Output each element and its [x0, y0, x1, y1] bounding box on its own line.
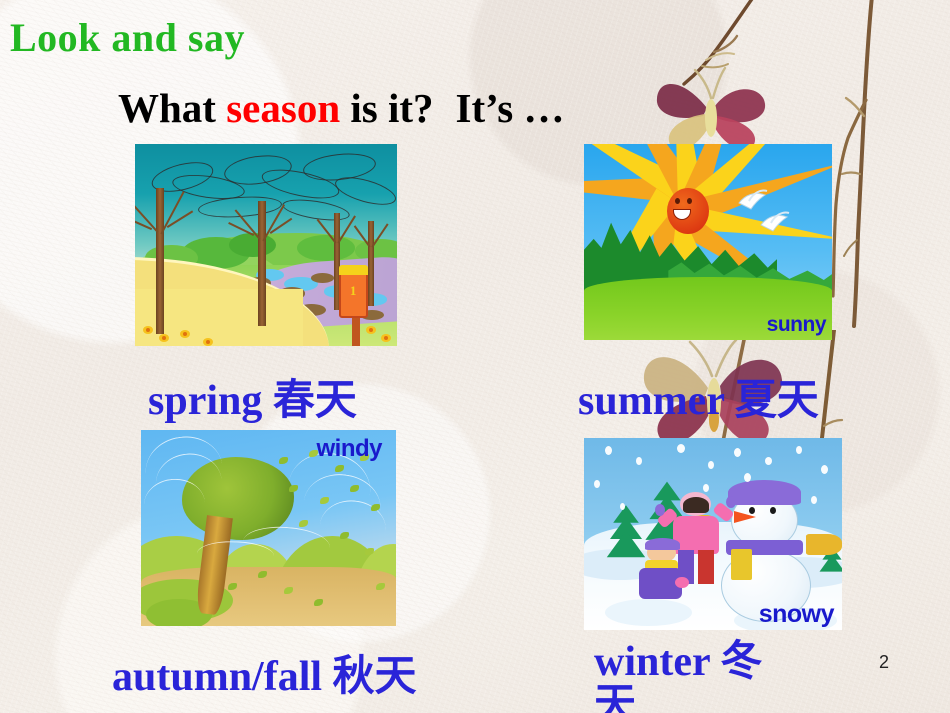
caption-spring-en: spring: [148, 378, 262, 424]
question-highlight: season: [226, 85, 340, 131]
dried-twig-icon: [830, 0, 910, 336]
slide-canvas: Look and say What season is it?It’s …: [0, 0, 950, 713]
question-line: What season is it?It’s …: [118, 84, 565, 132]
caption-autumn-en: autumn/fall: [112, 654, 322, 700]
weather-label-sunny: sunny: [767, 313, 826, 337]
caption-autumn: autumn/fall 秋天: [112, 642, 417, 703]
caption-spring-cn: 春天: [273, 375, 357, 424]
question-part2: is it?: [340, 85, 433, 131]
question-part3: It’s …: [456, 85, 565, 131]
season-image-spring[interactable]: 1: [135, 144, 397, 346]
caption-winter: winter 冬天: [594, 640, 804, 713]
caption-summer-en: summer: [578, 378, 724, 424]
season-image-summer[interactable]: sunny: [584, 144, 832, 340]
season-image-autumn[interactable]: windy: [141, 430, 396, 626]
weather-label-windy: windy: [316, 435, 382, 463]
weather-label-snowy: snowy: [759, 600, 834, 629]
caption-summer: summer 夏天: [578, 366, 819, 427]
dried-twig-icon: [636, 0, 766, 124]
caption-spring: spring 春天: [148, 366, 357, 427]
page-title: Look and say: [10, 14, 245, 61]
question-part1: What: [118, 85, 226, 131]
dove-icon: [758, 209, 790, 233]
season-image-winter[interactable]: snowy: [584, 438, 842, 630]
caption-summer-cn: 夏天: [735, 375, 819, 424]
slide-number: 2: [879, 652, 889, 673]
caption-autumn-cn: 秋天: [333, 651, 417, 700]
